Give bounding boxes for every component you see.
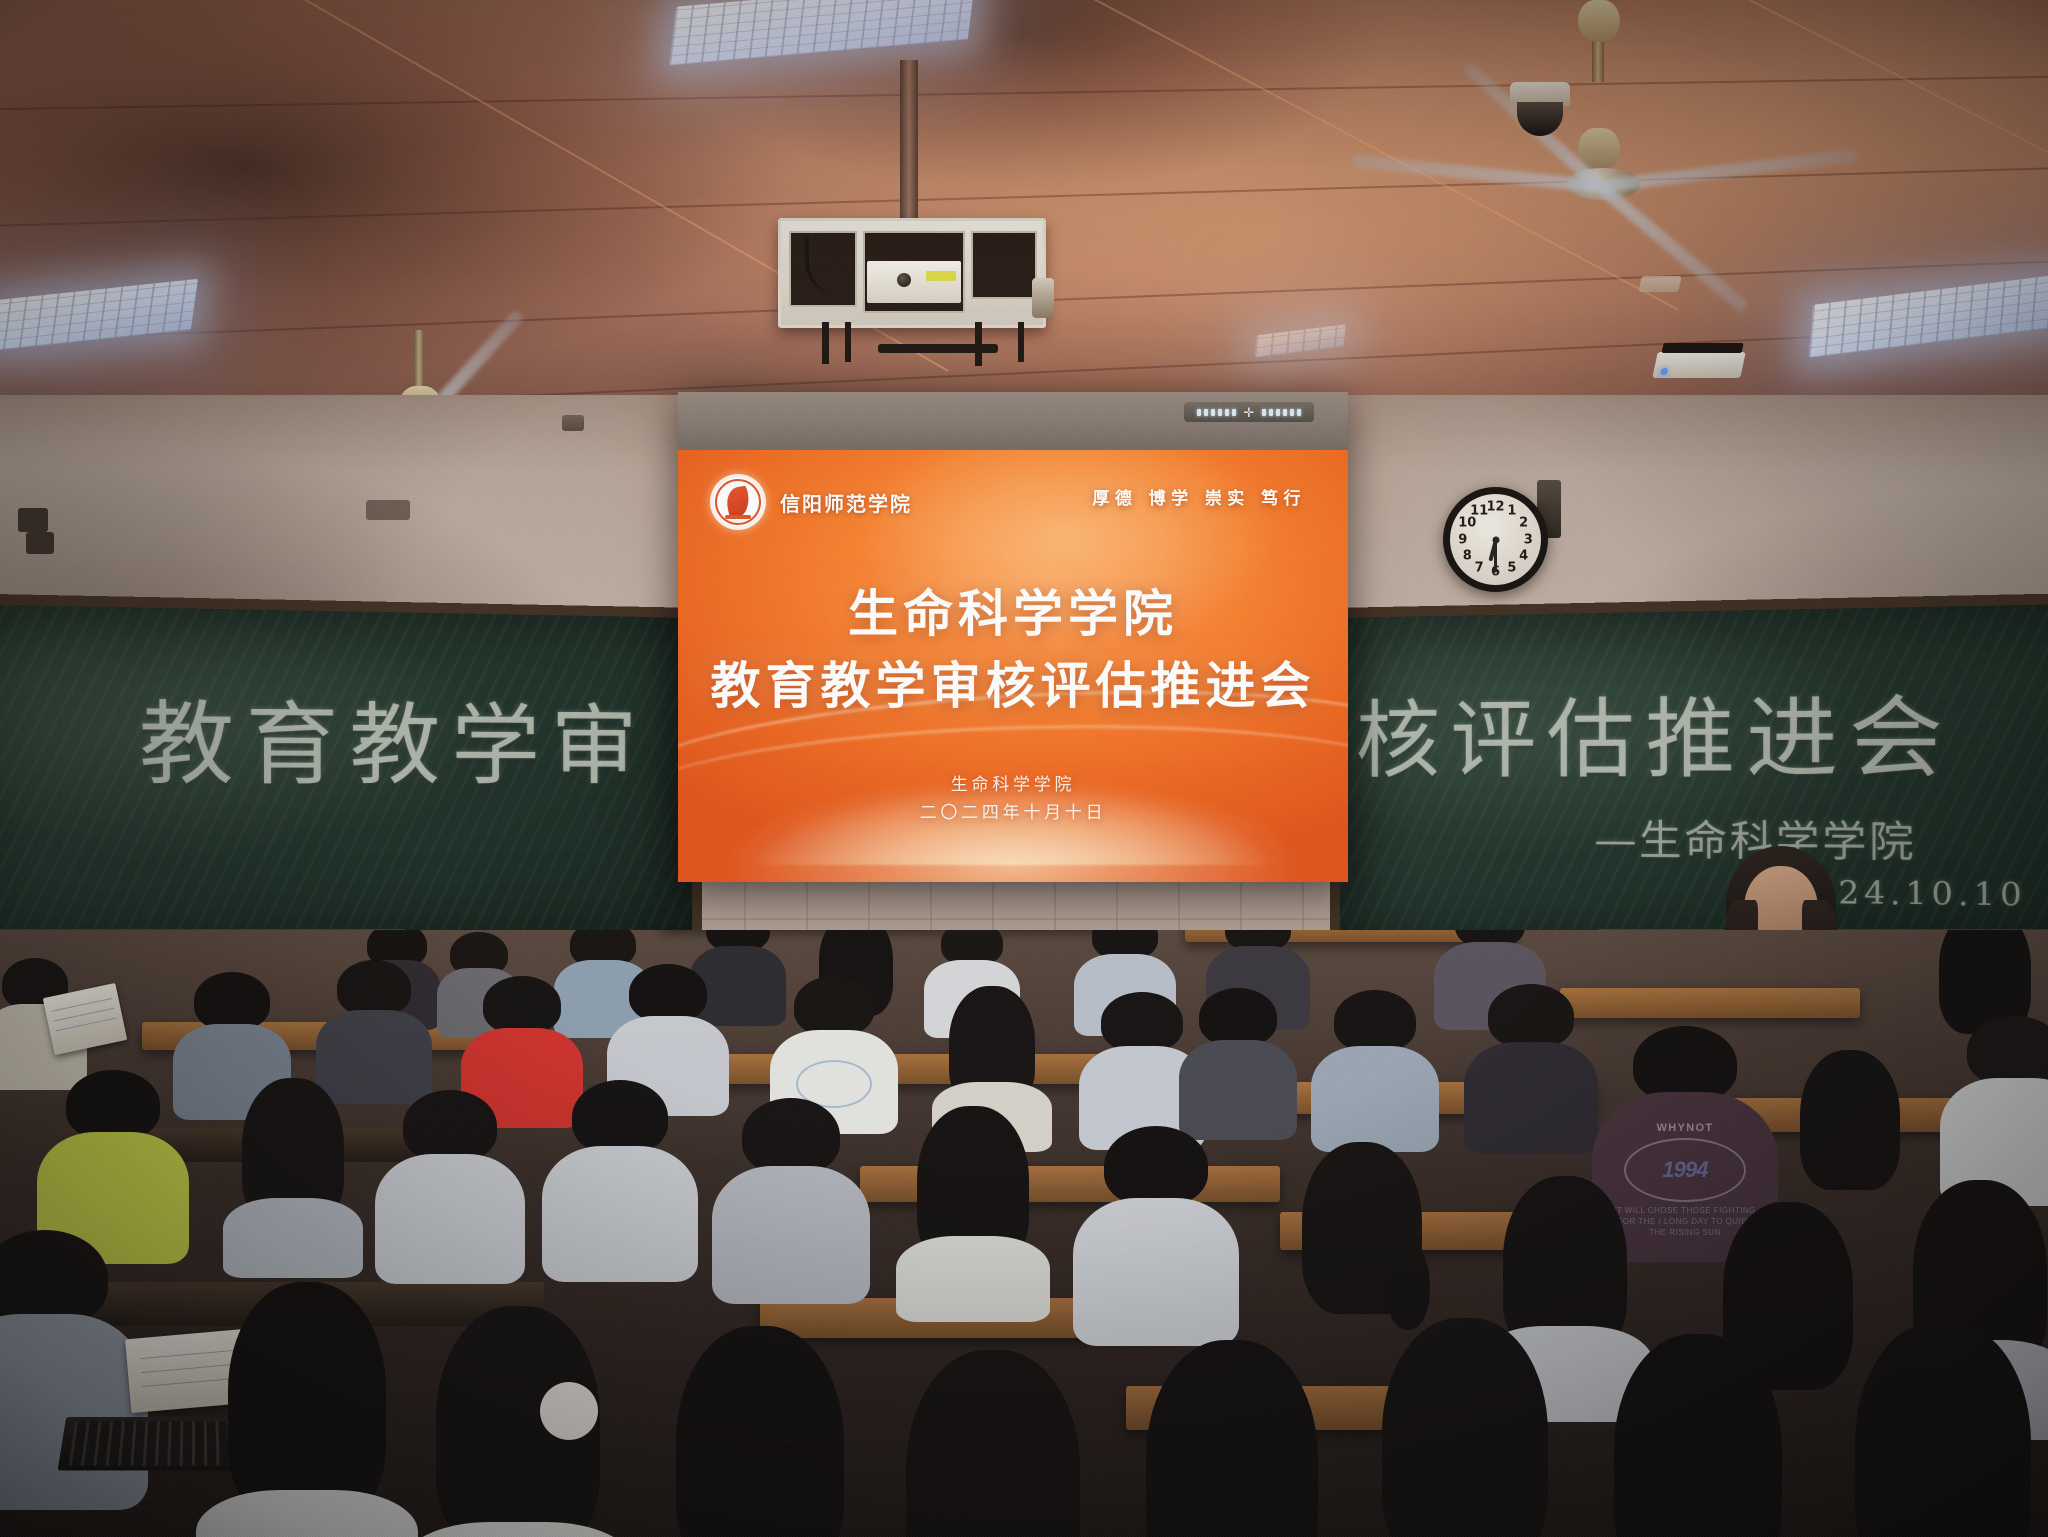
student-hair <box>0 1230 108 1326</box>
student-torso <box>896 1236 1050 1322</box>
projector-label <box>926 271 956 281</box>
student-long-hair <box>1382 1318 1548 1537</box>
student-hair <box>194 972 270 1030</box>
seated-student <box>1086 1126 1226 1336</box>
wall-speaker <box>562 415 584 431</box>
student-long-hair <box>228 1282 386 1518</box>
seated-student <box>1320 990 1430 1146</box>
student-hair <box>66 1070 160 1140</box>
seated-student-glasses <box>1188 988 1288 1134</box>
student-hair <box>1334 990 1416 1052</box>
ap-top <box>1661 343 1744 353</box>
student-torso <box>402 1522 634 1537</box>
seated-student <box>556 1080 684 1272</box>
student-hair <box>742 1098 840 1174</box>
student-torso <box>712 1166 870 1304</box>
clock-minute-hand <box>1494 539 1497 572</box>
student-hair <box>629 964 707 1022</box>
student-long-hair <box>1614 1334 1782 1537</box>
projector-unit <box>867 261 961 303</box>
blackboard-left: 教育教学审 <box>0 593 702 973</box>
clock-numeral: 3 <box>1524 532 1533 547</box>
student-desk <box>1560 988 1860 1018</box>
screen-panel-plus-icon: ✛ <box>1244 406 1255 419</box>
student-long-hair <box>1800 1050 1900 1190</box>
seated-student <box>726 1098 856 1294</box>
clock-numeral: 1 <box>1507 504 1516 519</box>
seated-student <box>660 1326 860 1537</box>
student-hair <box>337 960 411 1016</box>
student-hair <box>1101 992 1183 1052</box>
seated-student <box>1790 1050 1910 1220</box>
seated-student <box>1130 1340 1334 1537</box>
student-torso <box>375 1154 525 1284</box>
seated-student <box>906 1106 1040 1306</box>
wall-clock: 12 1 2 3 4 5 6 7 8 9 10 11 <box>1443 487 1548 592</box>
seated-student <box>50 1070 176 1256</box>
student-hair <box>1633 1026 1737 1102</box>
seated-student <box>1474 984 1588 1144</box>
student-torso <box>542 1146 698 1282</box>
seated-student <box>890 1350 1096 1537</box>
student-torso <box>223 1198 363 1278</box>
student-hair <box>1104 1126 1208 1206</box>
wall-socket <box>26 532 54 554</box>
seated-student <box>1598 1334 1798 1537</box>
blackboard-right: 核评估推进会 —生命科学学院 2024.10.10 <box>1330 592 2048 974</box>
student-torso <box>1073 1198 1239 1346</box>
classroom-photo: 教育教学审 核评估推进会 —生命科学学院 2024.10.10 12 1 2 3… <box>0 0 2048 1537</box>
clock-numeral: 12 <box>1486 499 1504 514</box>
student-long-hair <box>1855 1322 2031 1537</box>
student-hair-clip <box>540 1382 598 1440</box>
wall-conduit-plate <box>366 500 410 520</box>
crest-bar <box>725 515 751 519</box>
slide-subtitle-date: 二〇二四年十月十日 <box>678 798 1348 823</box>
student-torso <box>196 1490 418 1537</box>
clock-numeral: 4 <box>1519 548 1528 563</box>
slide-subtitle-org: 生命科学学院 <box>678 770 1348 795</box>
tshirt-center-text: 1994 <box>1662 1157 1707 1183</box>
clock-numeral: 9 <box>1458 532 1467 547</box>
student-hair <box>1199 988 1277 1046</box>
screen-header-bar: ✛ <box>678 392 1348 450</box>
seated-student-glasses <box>388 1090 512 1274</box>
dome-security-camera <box>1510 82 1570 138</box>
student-long-hair <box>1146 1340 1318 1537</box>
clock-numeral: 8 <box>1463 548 1472 563</box>
clock-numeral: 2 <box>1519 516 1528 531</box>
wireless-access-point <box>1652 352 1746 378</box>
university-crest-icon <box>710 474 766 530</box>
student-long-hair <box>906 1350 1080 1537</box>
slide-motto: 厚德 博学 崇实 笃行 <box>1092 484 1306 509</box>
seated-student <box>1838 1322 2048 1537</box>
student-hair <box>572 1080 668 1154</box>
slide-title-line1: 生命科学学院 <box>678 574 1348 646</box>
seated-student <box>232 1078 354 1258</box>
student-ponytail <box>1386 1242 1430 1330</box>
seated-student <box>1366 1318 1564 1537</box>
ap-led <box>1660 368 1668 375</box>
seated-student <box>212 1282 402 1537</box>
screen-mount-bracket <box>822 322 829 364</box>
camera-dome <box>1517 102 1563 136</box>
student-hair <box>794 976 874 1036</box>
slide-title-line2: 教育教学审核评估推进会 <box>678 646 1348 718</box>
tshirt-oval-graphic: 1994 <box>1624 1138 1746 1202</box>
clock-face: 12 1 2 3 4 5 6 7 8 9 10 11 <box>1450 494 1541 585</box>
student-torso <box>1464 1042 1598 1154</box>
clock-numeral: 5 <box>1507 560 1516 575</box>
projector-lens <box>897 273 911 287</box>
projection-screen: ✛ 信阳师范学院 厚德 博学 崇实 笃行 生命科学学院 教育教学审核评估推进会 … <box>678 392 1348 882</box>
clock-numeral: 11 <box>1470 504 1488 519</box>
wireless-access-point <box>1638 276 1681 292</box>
clock-numeral: 7 <box>1475 560 1484 575</box>
student-torso <box>1179 1040 1297 1140</box>
screen-control-panel[interactable]: ✛ <box>1184 402 1314 422</box>
paper-line <box>56 1017 117 1031</box>
presentation-slide: 信阳师范学院 厚德 博学 崇实 笃行 生命科学学院 教育教学审核评估推进会 生命… <box>678 450 1348 882</box>
seated-student <box>420 1306 616 1537</box>
slide-institution-logo: 信阳师范学院 <box>710 474 912 530</box>
blackboard-right-text: 核评估推进会 <box>1356 666 1955 796</box>
student-torso <box>1311 1046 1439 1152</box>
slide-logo-text: 信阳师范学院 <box>780 488 912 517</box>
audience-seating-area: WHYNOT 1994 IT WILL CHOSE THOSE FIGHTING… <box>0 930 2048 1537</box>
student-hair <box>403 1090 497 1162</box>
screen-mount-bracket <box>845 322 851 362</box>
blackboard-left-text: 教育教学审 <box>139 669 648 802</box>
student-hair <box>1967 1016 2048 1086</box>
screen-mount-slot <box>878 344 998 353</box>
seated-student <box>1950 1016 2048 1202</box>
student-hair <box>483 976 561 1034</box>
screen-panel-dots-right <box>1262 409 1301 416</box>
tshirt-top-text: WHYNOT <box>1657 1122 1714 1134</box>
wall-socket <box>18 508 48 532</box>
student-hair <box>1488 984 1574 1048</box>
screen-panel-dots-left <box>1197 409 1236 416</box>
screen-mount-bracket <box>1018 322 1024 362</box>
projector-ir-sensor <box>1032 278 1054 318</box>
clock-center-pin <box>1492 536 1499 543</box>
student-long-hair <box>676 1326 844 1537</box>
projector-window-right <box>971 231 1037 299</box>
